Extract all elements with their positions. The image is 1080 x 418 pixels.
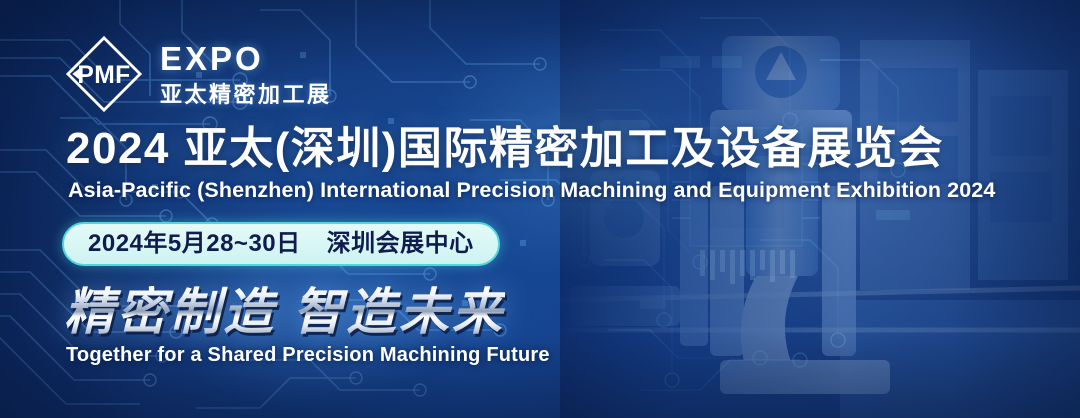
brand-logo[interactable]: PMF EXPO 亚太精密加工展: [60, 30, 332, 118]
logo-text-group: EXPO 亚太精密加工展: [160, 40, 332, 108]
logo-chinese-label: 亚太精密加工展: [160, 81, 332, 109]
pmf-diamond-logo-icon: PMF: [60, 30, 148, 118]
event-info-badge: 2024年5月28~30日 深圳会展中心: [62, 222, 500, 266]
svg-text:PMF: PMF: [77, 62, 130, 89]
page-title-chinese: 2024 亚太(深圳)国际精密加工及设备展览会: [66, 127, 944, 171]
event-venue: 深圳会展中心: [327, 232, 474, 256]
exhibition-banner: PMF EXPO 亚太精密加工展 2024 亚太(深圳)国际精密加工及设备展览会…: [0, 0, 1080, 418]
event-date: 2024年5月28~30日: [88, 232, 301, 256]
slogan-chinese: 精密制造 智造未来: [64, 286, 505, 339]
banner-content: PMF EXPO 亚太精密加工展 2024 亚太(深圳)国际精密加工及设备展览会…: [0, 0, 1080, 418]
slogan-english: Together for a Shared Precision Machinin…: [66, 345, 550, 365]
logo-expo-label: EXPO: [160, 42, 332, 77]
page-title-english: Asia-Pacific (Shenzhen) International Pr…: [68, 180, 995, 202]
